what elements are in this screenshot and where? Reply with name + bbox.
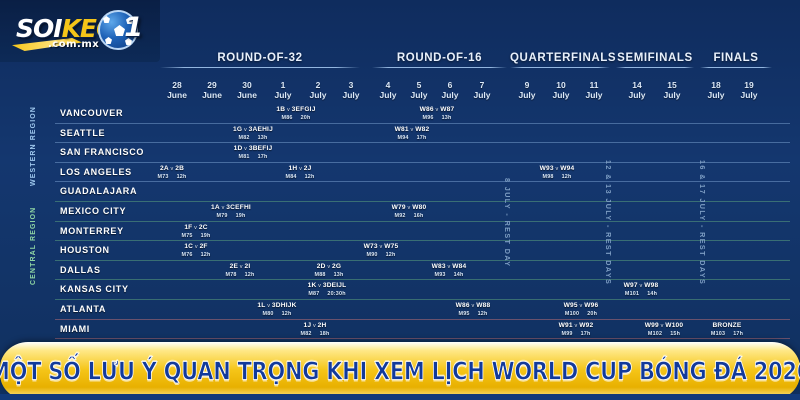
date-column-header: 9July <box>511 80 543 100</box>
match-team-b: 3DHIJK <box>272 302 297 309</box>
round-header-label: QUARTERFINALS <box>510 52 610 67</box>
match-code: M84 <box>286 174 297 180</box>
date-column-header: 6July <box>434 80 466 100</box>
match-team-a: W73 <box>364 243 378 250</box>
date-column-header: 19July <box>733 80 765 100</box>
match-time: 12h <box>201 252 211 258</box>
match-teams: W91 v W92 <box>541 322 611 330</box>
round-header-label: FINALS <box>700 52 772 67</box>
match-team-a: W79 <box>392 204 406 211</box>
match-team-a: 1G <box>233 126 242 133</box>
date-column-header: 2July <box>302 80 334 100</box>
match-cell[interactable]: 1B v 3EFGIJM8620h <box>261 106 331 122</box>
round-header-label: ROUND-OF-32 <box>160 52 360 67</box>
match-cell[interactable]: W91 v W92M9917h <box>541 322 611 338</box>
match-code: M98 <box>543 174 554 180</box>
match-team-b: 3AEHIJ <box>249 126 273 133</box>
match-team-b: 3EFGIJ <box>292 106 316 113</box>
match-meta: M8813h <box>294 271 364 279</box>
match-team-b: 2C <box>199 224 208 231</box>
match-meta: M9216h <box>374 212 444 220</box>
match-code: M99 <box>562 331 573 337</box>
match-time: 16h <box>414 213 424 219</box>
match-code: M96 <box>423 115 434 121</box>
city-row: SAN FRANCISCO <box>0 143 800 163</box>
date-day: 19 <box>733 80 765 90</box>
match-code: M103 <box>711 331 725 337</box>
match-time: 14h <box>454 272 464 278</box>
date-day: 29 <box>196 80 228 90</box>
match-time: 17h <box>417 135 427 141</box>
match-cell[interactable]: W83 v W84M9314h <box>414 263 484 279</box>
match-team-b: W80 <box>412 204 426 211</box>
match-meta: M9812h <box>522 173 592 181</box>
date-month: July <box>621 90 653 100</box>
rest-day-label: 16 & 17 JULY - REST DAYS <box>698 108 707 338</box>
match-cell[interactable]: W86 v W87M9613h <box>402 106 472 122</box>
match-meta: M8412h <box>265 173 335 181</box>
match-time: 13h <box>334 272 344 278</box>
match-cell[interactable]: W81 v W82M9417h <box>377 126 447 142</box>
date-month: July <box>656 90 688 100</box>
logo-inner: SOIKEO .com.mx 1 <box>10 8 152 54</box>
date-month: July <box>434 90 466 100</box>
match-meta: M9417h <box>377 134 447 142</box>
date-column-header: 7July <box>466 80 498 100</box>
match-cell[interactable]: 1D v 3BEFIJM8117h <box>218 145 288 161</box>
match-team-a: W81 <box>395 126 409 133</box>
match-cell[interactable]: 1A v 3CEFHIM7919h <box>196 204 266 220</box>
match-time: 17h <box>258 154 268 160</box>
match-team-a: 2A <box>160 165 169 172</box>
match-vs-separator: v <box>659 323 665 329</box>
date-column-header: 5July <box>403 80 435 100</box>
date-column-header: 4July <box>372 80 404 100</box>
match-team-a: W91 <box>559 322 573 329</box>
match-teams: 2D v 2G <box>294 263 364 271</box>
match-teams: W97 v W98 <box>606 282 676 290</box>
match-team-b: 2I <box>244 263 250 270</box>
match-team-b: 3DEIJL <box>323 282 347 289</box>
match-cell[interactable]: 2A v 2BM7312h <box>137 165 207 181</box>
date-column-header: 14July <box>621 80 653 100</box>
match-cell[interactable]: BRONZEM10317h <box>692 322 762 338</box>
city-row: DALLAS <box>0 261 800 281</box>
match-code: M90 <box>367 252 378 258</box>
match-code: M102 <box>648 331 662 337</box>
match-code: M78 <box>226 272 237 278</box>
match-time: 13h <box>442 115 452 121</box>
match-cell[interactable]: 2E v 2IM7812h <box>205 263 275 279</box>
match-team-b: 2H <box>318 322 327 329</box>
match-time: 13h <box>258 135 268 141</box>
date-month: July <box>700 90 732 100</box>
date-month: July <box>733 90 765 100</box>
match-cell[interactable]: W73 v W75M9012h <box>346 243 416 259</box>
match-teams: W81 v W82 <box>377 126 447 134</box>
match-team-b: W98 <box>644 282 658 289</box>
match-teams: BRONZE <box>692 322 762 330</box>
match-time: 18h <box>320 331 330 337</box>
date-day: 9 <box>511 80 543 90</box>
match-meta: M8218h <box>280 330 350 338</box>
match-teams: 2A v 2B <box>137 165 207 173</box>
match-time: 12h <box>245 272 255 278</box>
region-label-west: WESTERN REGION <box>30 108 38 186</box>
match-team-a: 1A <box>211 204 220 211</box>
bracket-grid: VANCOUVERSEATTLESAN FRANCISCOLOS ANGELES… <box>0 104 800 340</box>
match-meta: M7519h <box>161 232 231 240</box>
round-header-4: FINALS <box>700 52 772 68</box>
match-code: M93 <box>435 272 446 278</box>
match-teams: 1J v 2H <box>280 322 350 330</box>
round-header-label: ROUND-OF-16 <box>372 52 507 67</box>
city-name-label: GUADALAJARA <box>60 186 137 196</box>
date-month: July <box>545 90 577 100</box>
match-cell[interactable]: W93 v W94M9812h <box>522 165 592 181</box>
match-teams: 2E v 2I <box>205 263 275 271</box>
date-day: 15 <box>656 80 688 90</box>
match-team-b: W88 <box>476 302 490 309</box>
match-team-a: W83 <box>432 263 446 270</box>
city-row: GUADALAJARA <box>0 182 800 202</box>
city-name-label: KANSAS CITY <box>60 284 129 294</box>
date-day: 11 <box>578 80 610 90</box>
city-name-label: MONTERREY <box>60 226 124 236</box>
match-cell[interactable]: 1C v 2FM7612h <box>161 243 231 259</box>
date-day: 6 <box>434 80 466 90</box>
match-cell[interactable]: W95 v W96M10020h <box>546 302 616 318</box>
date-day: 14 <box>621 80 653 90</box>
round-header-rule <box>616 67 694 68</box>
match-teams: 1F v 2C <box>161 224 231 232</box>
match-time: 14h <box>647 291 657 297</box>
city-row: MONTERREY <box>0 222 800 242</box>
match-team-a: 1B <box>276 106 285 113</box>
match-cell[interactable]: 1J v 2HM8218h <box>280 322 350 338</box>
logo-badge-number: 1 <box>124 14 143 41</box>
match-cell[interactable]: 1F v 2CM7519h <box>161 224 231 240</box>
match-time: 20h <box>587 311 597 317</box>
match-team-a: W86 <box>420 106 434 113</box>
city-row: LOS ANGELES <box>0 163 800 183</box>
match-team-b: W94 <box>560 165 574 172</box>
match-team-b: 2J <box>304 165 312 172</box>
match-vs-separator: v <box>238 264 244 270</box>
match-team-b: W87 <box>440 106 454 113</box>
match-vs-separator: v <box>193 244 199 250</box>
match-code: M82 <box>239 135 250 141</box>
date-column-header: 28June <box>161 80 193 100</box>
match-vs-separator: v <box>242 127 248 133</box>
match-time: 12h <box>177 174 187 180</box>
match-teams: 1G v 3AEHIJ <box>218 126 288 134</box>
match-code: M101 <box>625 291 639 297</box>
match-teams: W95 v W96 <box>546 302 616 310</box>
city-row: ATLANTA <box>0 300 800 320</box>
row-divider <box>55 338 790 339</box>
match-team-a: 1L <box>257 302 265 309</box>
match-cell[interactable]: 1L v 3DHIJKM8012h <box>242 302 312 318</box>
date-column-header: 11July <box>578 80 610 100</box>
round-header-rule <box>510 67 610 68</box>
match-time: 12h <box>282 311 292 317</box>
match-meta: M10020h <box>546 310 616 318</box>
match-meta: M8620h <box>261 114 331 122</box>
match-cell[interactable]: W86 v W88M9512h <box>438 302 508 318</box>
match-vs-separator: v <box>285 107 291 113</box>
match-vs-separator: v <box>573 323 579 329</box>
match-team-a: 2D <box>317 263 326 270</box>
date-column-header: 18July <box>700 80 732 100</box>
match-meta: M9613h <box>402 114 472 122</box>
match-vs-separator: v <box>326 264 332 270</box>
round-headers: ROUND-OF-32ROUND-OF-16QUARTERFINALSSEMIF… <box>0 52 800 78</box>
date-column-header: 15July <box>656 80 688 100</box>
match-vs-separator: v <box>316 283 322 289</box>
date-day: 18 <box>700 80 732 90</box>
match-team-a: 2E <box>230 263 238 270</box>
date-day: 5 <box>403 80 435 90</box>
match-time: 12h <box>386 252 396 258</box>
match-meta: M7612h <box>161 251 231 259</box>
match-team-b: 2B <box>175 165 184 172</box>
match-vs-separator: v <box>406 205 412 211</box>
date-month: July <box>335 90 367 100</box>
city-name-label: SAN FRANCISCO <box>60 147 144 157</box>
match-code: M73 <box>158 174 169 180</box>
date-column-header: 10July <box>545 80 577 100</box>
match-team-b: W100 <box>665 322 683 329</box>
match-vs-separator: v <box>434 107 440 113</box>
match-code: M75 <box>182 233 193 239</box>
round-header-rule <box>160 67 360 68</box>
match-team-b: 2F <box>200 243 208 250</box>
match-teams: 1L v 3DHIJK <box>242 302 312 310</box>
round-header-label: SEMIFINALS <box>616 52 694 67</box>
round-header-1: ROUND-OF-16 <box>372 52 507 68</box>
date-day: 1 <box>267 80 299 90</box>
match-time: 19h <box>201 233 211 239</box>
city-row: KANSAS CITY <box>0 280 800 300</box>
match-vs-separator: v <box>192 225 198 231</box>
round-header-2: QUARTERFINALS <box>510 52 610 68</box>
match-cell[interactable]: 1K v 3DEIJLM8720:30h <box>292 282 362 298</box>
match-code: M92 <box>395 213 406 219</box>
date-column-header: 3July <box>335 80 367 100</box>
match-meta: M8213h <box>218 134 288 142</box>
match-time: 12h <box>305 174 315 180</box>
match-vs-separator: v <box>242 146 248 152</box>
date-day: 2 <box>302 80 334 90</box>
date-day: 10 <box>545 80 577 90</box>
date-month: July <box>302 90 334 100</box>
match-meta: M9012h <box>346 251 416 259</box>
match-code: M100 <box>565 311 579 317</box>
match-team-a: W97 <box>624 282 638 289</box>
match-meta: M8117h <box>218 153 288 161</box>
match-meta: M9314h <box>414 271 484 279</box>
match-team-a: W86 <box>456 302 470 309</box>
date-month: July <box>267 90 299 100</box>
match-meta: M8012h <box>242 310 312 318</box>
match-vs-separator: v <box>169 166 175 172</box>
match-code: M95 <box>459 311 470 317</box>
date-month: June <box>161 90 193 100</box>
city-name-label: MEXICO CITY <box>60 206 126 216</box>
date-column-header: 30June <box>231 80 263 100</box>
date-month: July <box>578 90 610 100</box>
match-teams: 1C v 2F <box>161 243 231 251</box>
match-vs-separator: v <box>638 283 644 289</box>
match-team-b: W92 <box>579 322 593 329</box>
bottom-banner: MỘT SỐ LƯU Ý QUAN TRỌNG KHI XEM LỊCH WOR… <box>0 342 800 400</box>
date-month: June <box>231 90 263 100</box>
match-teams: W79 v W80 <box>374 204 444 212</box>
match-meta: M10215h <box>629 330 699 338</box>
match-time: 20:30h <box>327 291 345 297</box>
match-cell[interactable]: 1G v 3AEHIJM8213h <box>218 126 288 142</box>
match-meta: M9917h <box>541 330 611 338</box>
match-code: M79 <box>217 213 228 219</box>
match-team-a: W93 <box>540 165 554 172</box>
date-day: 4 <box>372 80 404 90</box>
match-meta: M7919h <box>196 212 266 220</box>
match-vs-separator: v <box>220 205 226 211</box>
city-name-label: MIAMI <box>60 324 90 334</box>
date-day: 3 <box>335 80 367 90</box>
match-code: M94 <box>398 135 409 141</box>
date-headers: 28June29June30June1July2July3July4July5J… <box>0 80 800 104</box>
match-vs-separator: v <box>578 303 584 309</box>
match-vs-separator: v <box>446 264 452 270</box>
match-team-a: 1C <box>184 243 193 250</box>
match-team-b: 3CEFHI <box>226 204 251 211</box>
match-vs-separator: v <box>470 303 476 309</box>
date-column-header: 1July <box>267 80 299 100</box>
match-meta: M10114h <box>606 290 676 298</box>
match-team-a: W95 <box>564 302 578 309</box>
city-row: VANCOUVER <box>0 104 800 124</box>
match-teams: W99 v W100 <box>629 322 699 330</box>
round-header-rule <box>700 67 772 68</box>
match-vs-separator: v <box>554 166 560 172</box>
logo-domain: .com.mx <box>48 39 99 50</box>
date-column-header: 29June <box>196 80 228 100</box>
match-team-b: 3BEFIJ <box>249 145 273 152</box>
date-month: July <box>511 90 543 100</box>
banner-bottom-strip <box>0 394 800 400</box>
match-teams: 1A v 3CEFHI <box>196 204 266 212</box>
match-code: M86 <box>282 115 293 121</box>
match-code: M87 <box>308 291 319 297</box>
match-code: M82 <box>301 331 312 337</box>
match-cell[interactable]: W99 v W100M10215h <box>629 322 699 338</box>
date-month: July <box>403 90 435 100</box>
match-vs-separator: v <box>409 127 415 133</box>
match-time: 20h <box>301 115 311 121</box>
match-team-b: W75 <box>384 243 398 250</box>
date-month: June <box>196 90 228 100</box>
match-code: M80 <box>263 311 274 317</box>
match-team-b: W96 <box>584 302 598 309</box>
city-name-label: ATLANTA <box>60 304 106 314</box>
match-time: 15h <box>670 331 680 337</box>
match-teams: 1B v 3EFGIJ <box>261 106 331 114</box>
match-meta: M9512h <box>438 310 508 318</box>
city-name-label: SEATTLE <box>60 128 105 138</box>
match-code: M88 <box>315 272 326 278</box>
match-teams: W83 v W84 <box>414 263 484 271</box>
match-cell[interactable]: 1H v 2JM8412h <box>265 165 335 181</box>
city-name-label: HOUSTON <box>60 245 110 255</box>
date-day: 7 <box>466 80 498 90</box>
city-name-label: LOS ANGELES <box>60 167 132 177</box>
match-vs-separator: v <box>266 303 272 309</box>
date-day: 30 <box>231 80 263 90</box>
match-time: 17h <box>581 331 591 337</box>
match-time: 19h <box>236 213 246 219</box>
match-teams: W86 v W88 <box>438 302 508 310</box>
match-code: M81 <box>239 154 250 160</box>
banner-title: MỘT SỐ LƯU Ý QUAN TRỌNG KHI XEM LỊCH WOR… <box>0 357 800 385</box>
city-name-label: DALLAS <box>60 265 101 275</box>
match-time: 12h <box>478 311 488 317</box>
match-vs-separator: v <box>297 166 303 172</box>
match-teams: W73 v W75 <box>346 243 416 251</box>
match-team-b: 2G <box>332 263 341 270</box>
match-team-a: W99 <box>645 322 659 329</box>
match-teams: 1K v 3DEIJL <box>292 282 362 290</box>
match-cell[interactable]: 2D v 2GM8813h <box>294 263 364 279</box>
match-teams: W86 v W87 <box>402 106 472 114</box>
match-time: 17h <box>733 331 743 337</box>
round-header-3: SEMIFINALS <box>616 52 694 68</box>
round-header-0: ROUND-OF-32 <box>160 52 360 68</box>
region-label-central: CENTRAL REGION <box>30 196 38 296</box>
match-teams: 1H v 2J <box>265 165 335 173</box>
match-vs-separator: v <box>378 244 384 250</box>
match-code: M76 <box>182 252 193 258</box>
match-cell[interactable]: W79 v W80M9216h <box>374 204 444 220</box>
match-team-b: W84 <box>452 263 466 270</box>
match-meta: M7812h <box>205 271 275 279</box>
match-meta: M8720:30h <box>292 290 362 298</box>
match-team-b: W82 <box>415 126 429 133</box>
date-month: July <box>466 90 498 100</box>
logo-ball-badge: 1 <box>98 10 142 54</box>
round-header-rule <box>372 67 507 68</box>
match-time: 12h <box>562 174 572 180</box>
date-month: July <box>372 90 404 100</box>
match-meta: M7312h <box>137 173 207 181</box>
date-day: 28 <box>161 80 193 90</box>
match-teams: 1D v 3BEFIJ <box>218 145 288 153</box>
city-name-label: VANCOUVER <box>60 108 123 118</box>
match-vs-separator: v <box>311 323 317 329</box>
match-cell[interactable]: W97 v W98M10114h <box>606 282 676 298</box>
match-teams: W93 v W94 <box>522 165 592 173</box>
match-meta: M10317h <box>692 330 762 338</box>
